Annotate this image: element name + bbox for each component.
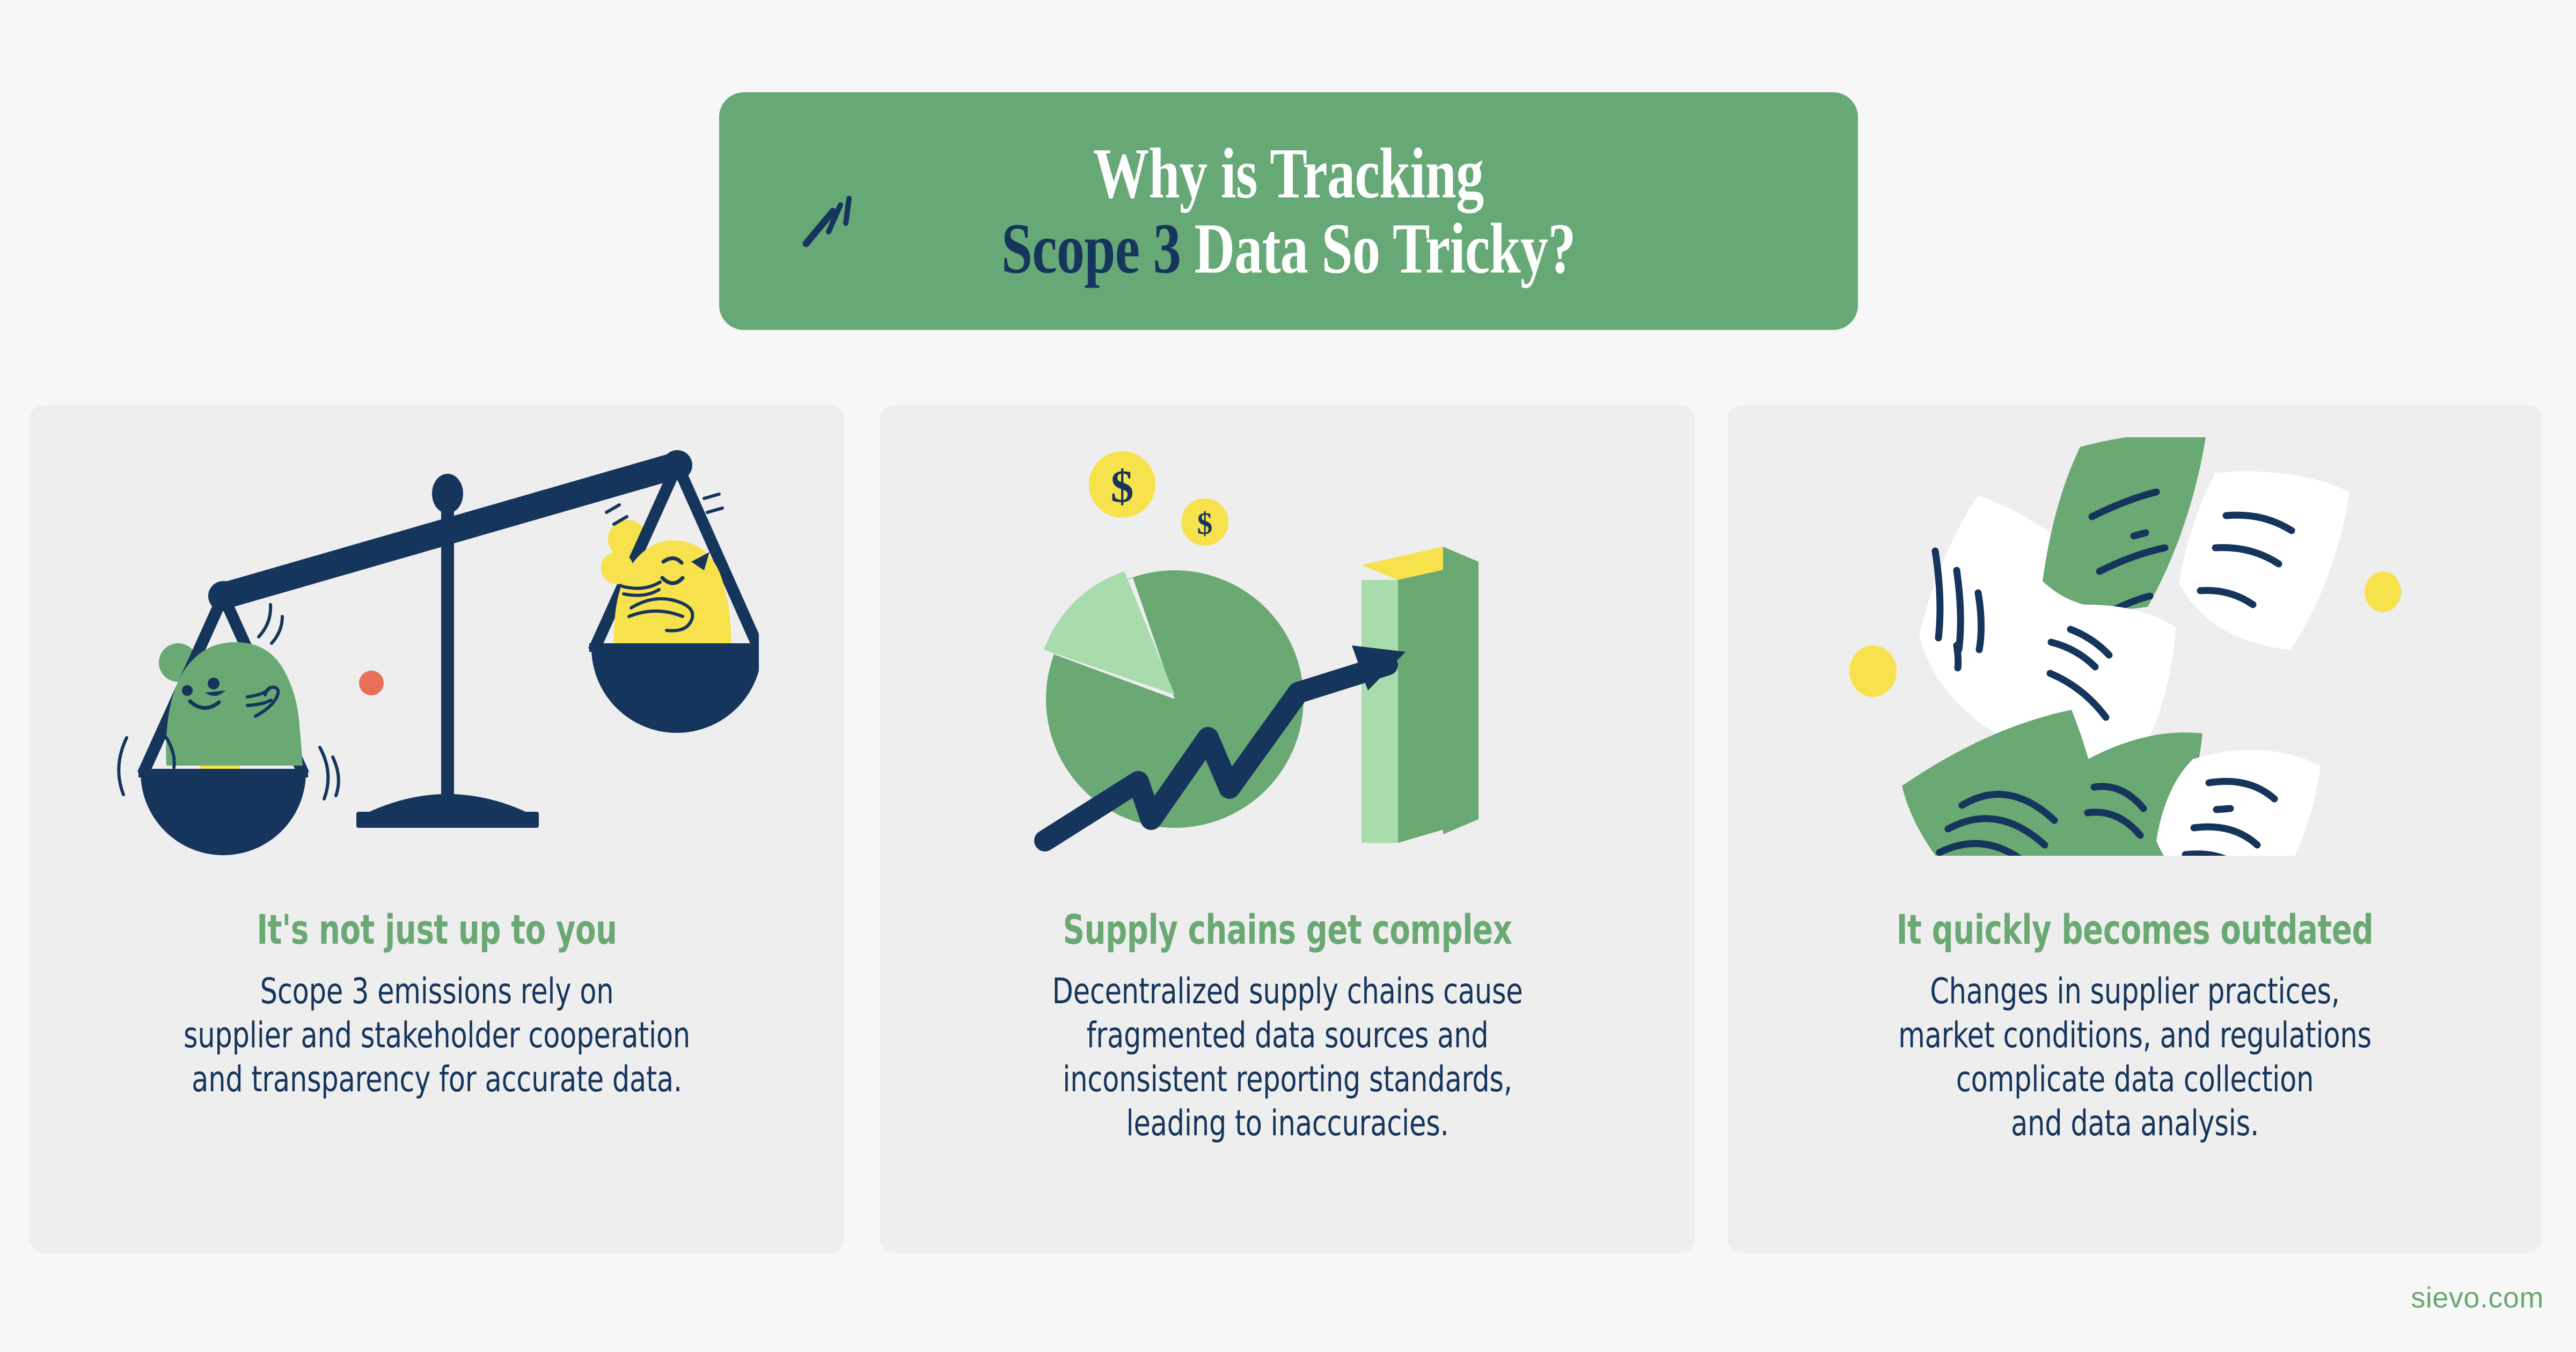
card-2-body: Decentralized supply chains cause fragme… (956, 969, 1620, 1145)
card-1-heading: It's not just up to you (120, 909, 753, 950)
card-its-not-just-up-to-you: It's not just up to you Scope 3 emission… (30, 405, 844, 1253)
charts-and-coins-illustration: $ $ (880, 437, 1695, 856)
card-3-body: Changes in supplier practices, market co… (1803, 969, 2467, 1145)
white-paper-sheet (2179, 472, 2350, 650)
card-it-quickly-becomes-outdated: It quickly becomes outdated Changes in s… (1728, 405, 2542, 1253)
yellow-dot-left (1849, 645, 1897, 697)
dollar-coin-small: $ (1181, 498, 1228, 546)
right-pan-raised (589, 465, 759, 733)
page-title-highlight: Scope 3 (1001, 209, 1181, 288)
bar-3d-front (1362, 580, 1398, 843)
header-banner: Why is Tracking Scope 3 Data So Tricky? (719, 92, 1858, 330)
card-1-body: Scope 3 emissions rely on supplier and s… (105, 969, 769, 1101)
yellow-dot-right (2365, 571, 2401, 612)
page-title-line-2: Scope 3 Data So Tricky? (1001, 211, 1576, 286)
page-title-rest: Data So Tricky? (1181, 209, 1576, 288)
svg-text:$: $ (1197, 506, 1213, 541)
dollar-coin-large: $ (1089, 451, 1155, 518)
card-2-heading: Supply chains get complex (971, 909, 1604, 950)
site-watermark: sievo.com (2411, 1281, 2544, 1314)
balance-scales-illustration (30, 437, 844, 856)
left-pan-lowered (115, 596, 339, 855)
card-supply-chains-get-complex: $ $ (880, 405, 1695, 1253)
svg-text:$: $ (1111, 460, 1134, 512)
card-3-heading: It quickly becomes outdated (1818, 909, 2451, 950)
coral-dot (359, 671, 384, 695)
page-title-line-1: Why is Tracking (1093, 136, 1484, 211)
flying-documents-illustration (1728, 437, 2542, 856)
